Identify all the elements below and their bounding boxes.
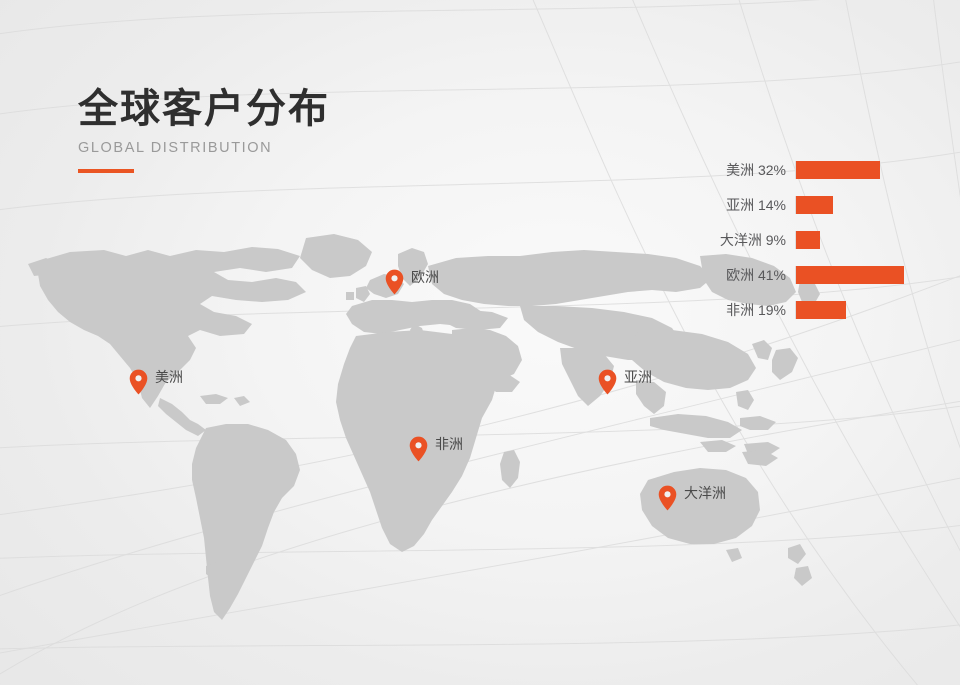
bar-label: 亚洲 14% [700,195,795,215]
marker-asia[interactable]: 亚洲 [598,369,652,395]
bar-label: 欧洲 41% [700,265,795,285]
bar-fill [796,266,904,284]
marker-oceania[interactable]: 大洋洲 [658,485,726,511]
map-marker-label: 美洲 [155,370,183,384]
bar-track [795,231,930,249]
bar-fill [796,161,880,179]
marker-americas[interactable]: 美洲 [129,369,183,395]
title-accent-bar [78,169,134,173]
slide-canvas: 全球客户分布 GLOBAL DISTRIBUTION 欧洲美洲亚洲非洲大洋洲 全… [0,0,960,685]
map-marker-label: 亚洲 [624,370,652,384]
bar-track [795,161,930,179]
bar-row: 美洲 32% [700,152,930,187]
bar-row: 大洋洲 9% [700,222,930,257]
map-pin-icon [385,269,404,295]
map-marker-label: 欧洲 [411,270,439,284]
bar-track [795,301,930,319]
bar-fill [796,301,846,319]
page-subtitle: GLOBAL DISTRIBUTION [78,140,498,156]
map-pin-icon [129,369,148,395]
bar-track [795,196,930,214]
bar-label: 美洲 32% [700,160,795,180]
title-block: 全球客户分布 GLOBAL DISTRIBUTION [78,88,498,173]
map-marker-label: 大洋洲 [684,486,726,500]
page-title: 全球客户分布 [78,88,498,131]
marker-europe[interactable]: 欧洲 [385,269,439,295]
bar-label: 大洋洲 9% [700,230,795,250]
bar-label: 非洲 19% [700,300,795,320]
map-marker-label: 非洲 [435,437,463,451]
distribution-bar-chart: 全球客户分布 美洲 32%亚洲 14%大洋洲 9%欧洲 41%非洲 19% [700,152,930,327]
map-pin-icon [658,485,677,511]
bar-fill [796,196,833,214]
marker-africa[interactable]: 非洲 [409,436,463,462]
map-pin-icon [409,436,428,462]
bar-row: 亚洲 14% [700,187,930,222]
bar-row: 欧洲 41% [700,257,930,292]
bar-rows: 美洲 32%亚洲 14%大洋洲 9%欧洲 41%非洲 19% [700,152,930,327]
map-pin-icon [598,369,617,395]
bar-track [795,266,930,284]
bar-row: 非洲 19% [700,292,930,327]
bar-fill [796,231,820,249]
